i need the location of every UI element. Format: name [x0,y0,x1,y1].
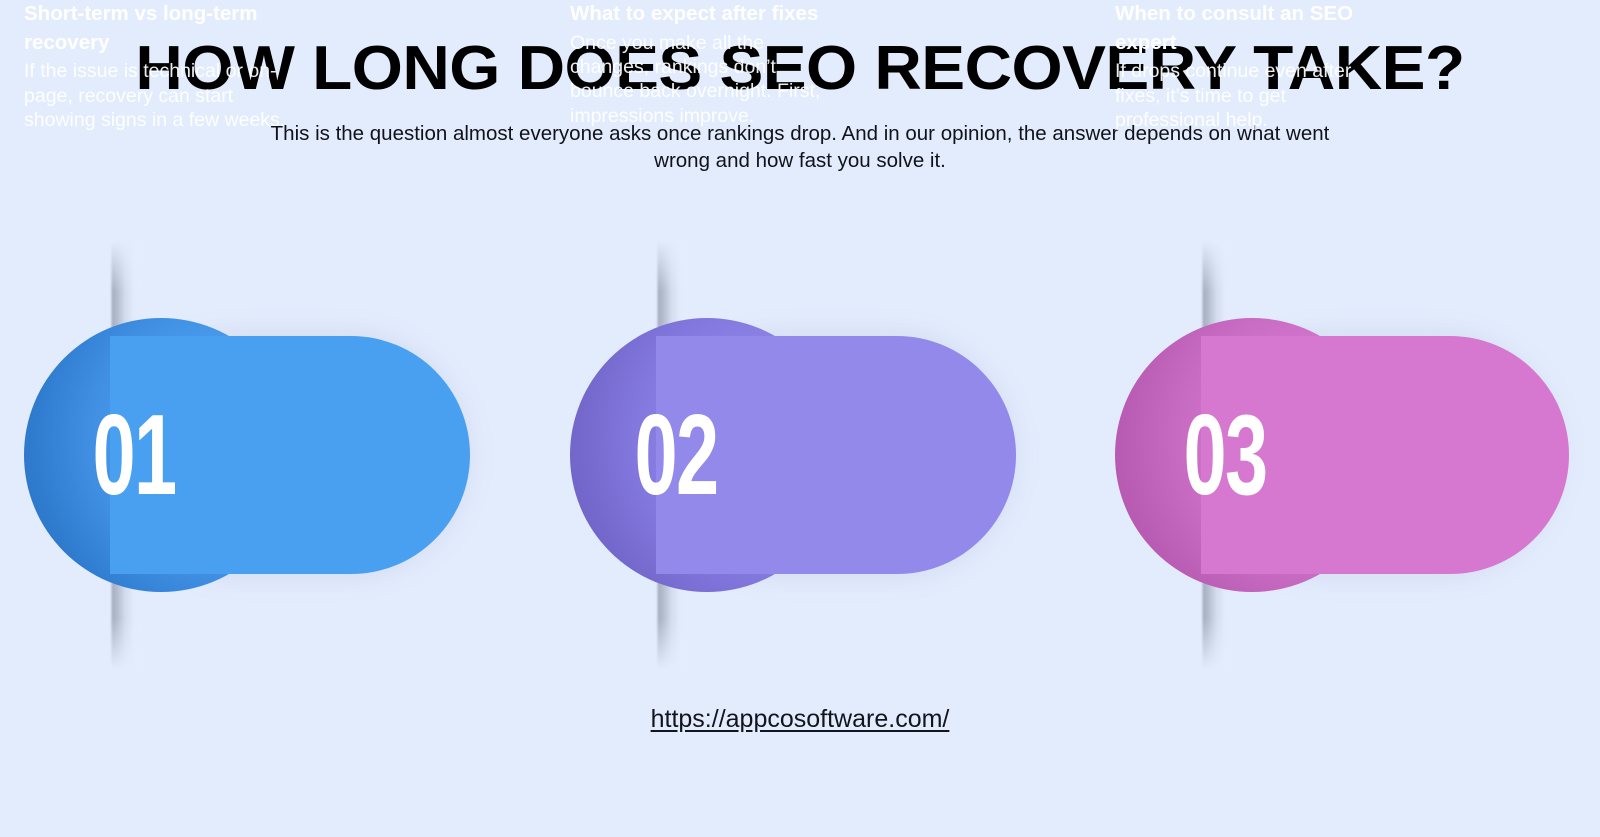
step-number-02: 02 [596,293,756,616]
step-text-03: When to consult an SEO expert If drops c… [1115,0,1383,133]
step-body-02: Once you make all the changes, rankings … [570,31,838,129]
step-number-03: 03 [1145,293,1305,616]
step-number-01: 01 [54,293,214,616]
step-card-01[interactable]: 01 [24,240,524,670]
website-url-link[interactable]: https://appcosoftware.com/ [651,705,950,733]
infographic-footer: https://appcosoftware.com/ [0,705,1600,734]
steps-container: 01 02 03 [0,240,1600,670]
step-card-03[interactable]: 03 [1115,240,1600,670]
step-heading-03: When to consult an SEO expert [1115,0,1383,57]
step-card-02[interactable]: 02 [570,240,1070,670]
step-body-01: If the issue is technical or on-page, re… [24,59,292,132]
step-heading-01: Short-term vs long-term recovery [24,0,292,57]
step-text-01: Short-term vs long-term recovery If the … [24,0,292,133]
step-body-03: If drops continue even after fixes, it’s… [1115,59,1377,132]
step-heading-02: What to expect after fixes [570,0,838,29]
step-text-02: What to expect after fixes Once you make… [570,0,838,128]
